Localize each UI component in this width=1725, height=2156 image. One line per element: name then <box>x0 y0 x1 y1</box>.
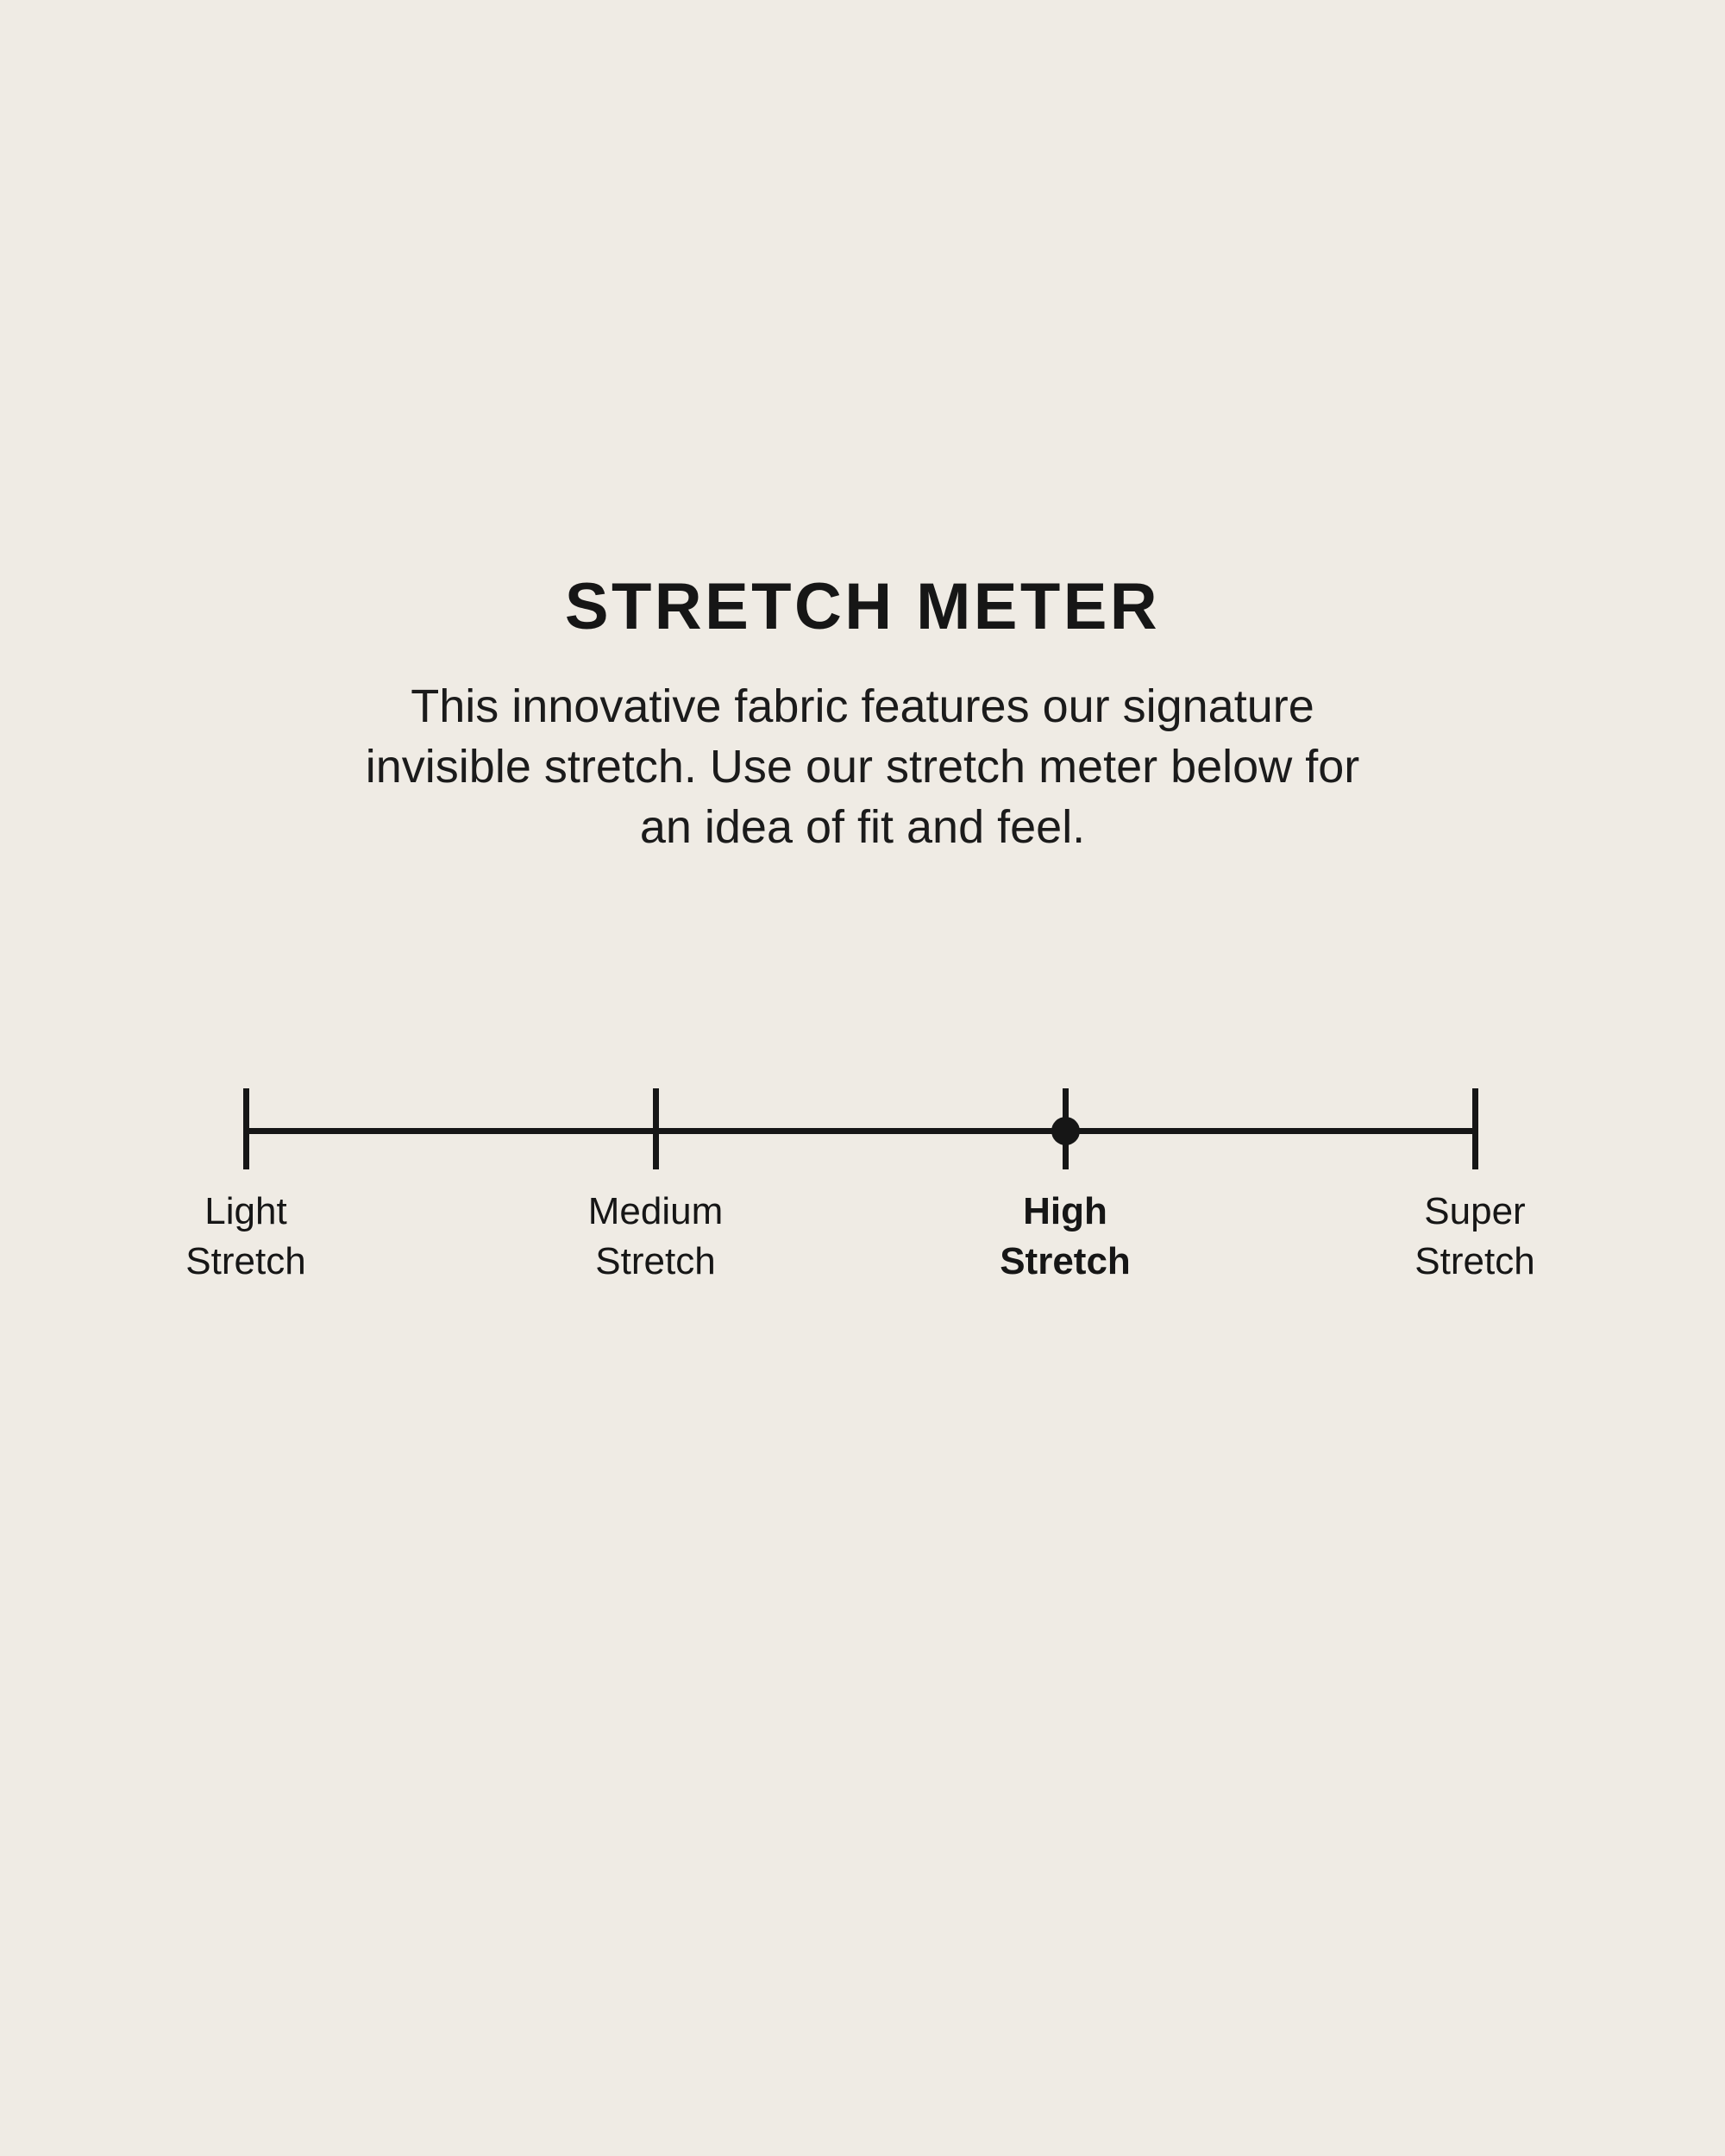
meter-selected-marker-dot <box>1051 1117 1080 1145</box>
meter-label-high[interactable]: High Stretch <box>893 1187 1238 1287</box>
stretch-meter-module: STRETCH METER This innovative fabric fea… <box>0 0 1725 2156</box>
meter-tick-super <box>1472 1088 1478 1169</box>
meter-label-light[interactable]: Light Stretch <box>73 1187 418 1287</box>
meter-label-high-line2: Stretch <box>893 1237 1238 1287</box>
stretch-meter-labels: Light Stretch Medium Stretch High Stretc… <box>246 1187 1475 1290</box>
stretch-meter-scale <box>246 1088 1475 1169</box>
meter-tick-light <box>243 1088 249 1169</box>
meter-label-medium[interactable]: Medium Stretch <box>483 1187 828 1287</box>
meter-label-high-line1: High <box>893 1187 1238 1237</box>
meter-label-super-line1: Super <box>1302 1187 1647 1237</box>
meter-label-medium-line1: Medium <box>483 1187 828 1237</box>
meter-label-light-line2: Stretch <box>73 1237 418 1287</box>
meter-label-light-line1: Light <box>73 1187 418 1237</box>
heading-block: STRETCH METER This innovative fabric fea… <box>0 574 1725 858</box>
module-description: This innovative fabric features our sign… <box>354 640 1371 858</box>
meter-label-medium-line2: Stretch <box>483 1237 828 1287</box>
meter-axis-line <box>246 1128 1475 1134</box>
meter-label-super-line2: Stretch <box>1302 1237 1647 1287</box>
meter-label-super[interactable]: Super Stretch <box>1302 1187 1647 1287</box>
page-title: STRETCH METER <box>0 574 1725 640</box>
meter-tick-medium <box>653 1088 659 1169</box>
